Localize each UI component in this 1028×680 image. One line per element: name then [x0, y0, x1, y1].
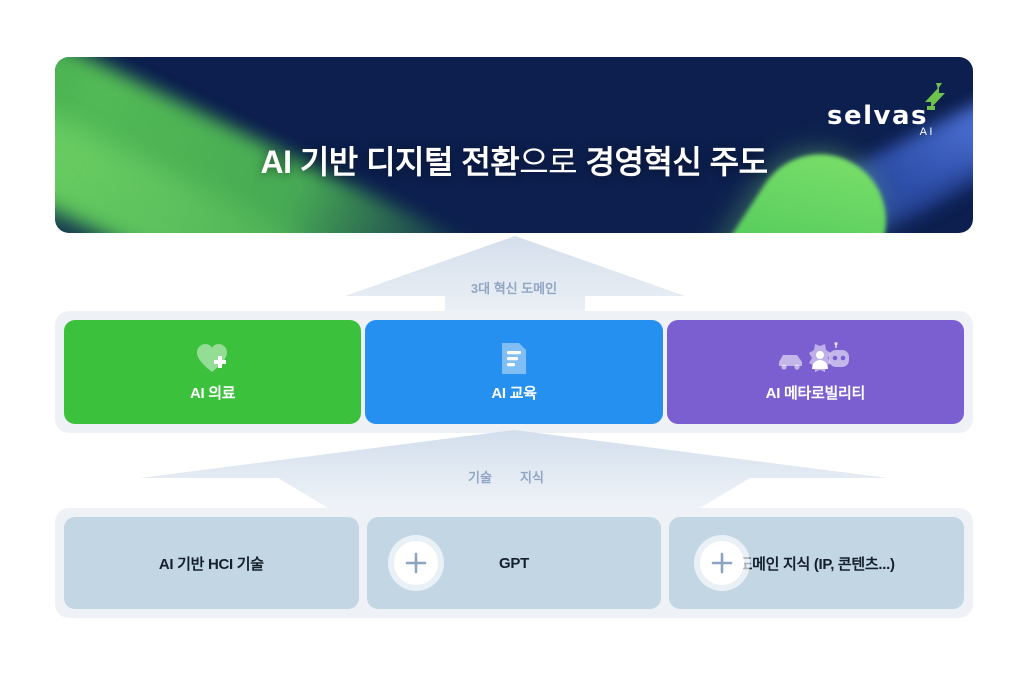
selvas-ai-logo: selvas AI [825, 79, 947, 141]
domain-card-medical[interactable]: AI 의료 [64, 320, 361, 424]
upper-arrow-label: 3대 혁신 도메인 [0, 278, 1028, 297]
infographic-page: AI 기반 디지털 전환으로 경영혁신 주도 selvas AI [0, 0, 1028, 680]
lower-arrow [140, 430, 888, 508]
domain-card-education-label: AI 교육 [491, 382, 536, 403]
banner-title-part-1: AI 기반 디지털 전환 [260, 144, 519, 180]
header-banner: AI 기반 디지털 전환으로 경영혁신 주도 selvas AI [55, 57, 973, 233]
selvas-leaf-mark-icon [905, 77, 949, 126]
domains-container: AI 의료 AI 교육 [55, 311, 973, 433]
plus-icon [394, 541, 438, 585]
banner-title: AI 기반 디지털 전환으로 경영혁신 주도 [55, 137, 973, 183]
banner-title-part-2: 으로 [519, 144, 577, 180]
lower-arrow-label-tech: 기술 [468, 467, 492, 486]
plus-icon-2 [700, 541, 744, 585]
domain-card-mobility-label: AI 메타로빌리티 [766, 382, 865, 403]
foundation-card-hci[interactable]: AI 기반 HCI 기술 [64, 517, 359, 609]
foundations-container: AI 기반 HCI 기술 GPT 도메인 지식 (IP, 콘텐츠...) [55, 508, 973, 618]
banner-title-part-3: 경영혁신 주도 [577, 144, 767, 180]
domain-card-mobility[interactable]: AI 메타로빌리티 [667, 320, 964, 424]
logo-subtext: AI [920, 126, 935, 138]
domain-card-medical-label: AI 의료 [190, 382, 235, 403]
lower-arrow-label-knowledge: 지식 [520, 467, 544, 486]
heart-plus-medical-icon [196, 342, 230, 376]
document-lines-icon [500, 342, 528, 376]
car-gear-person-robot-icon [777, 342, 853, 376]
domain-card-education[interactable]: AI 교육 [365, 320, 662, 424]
